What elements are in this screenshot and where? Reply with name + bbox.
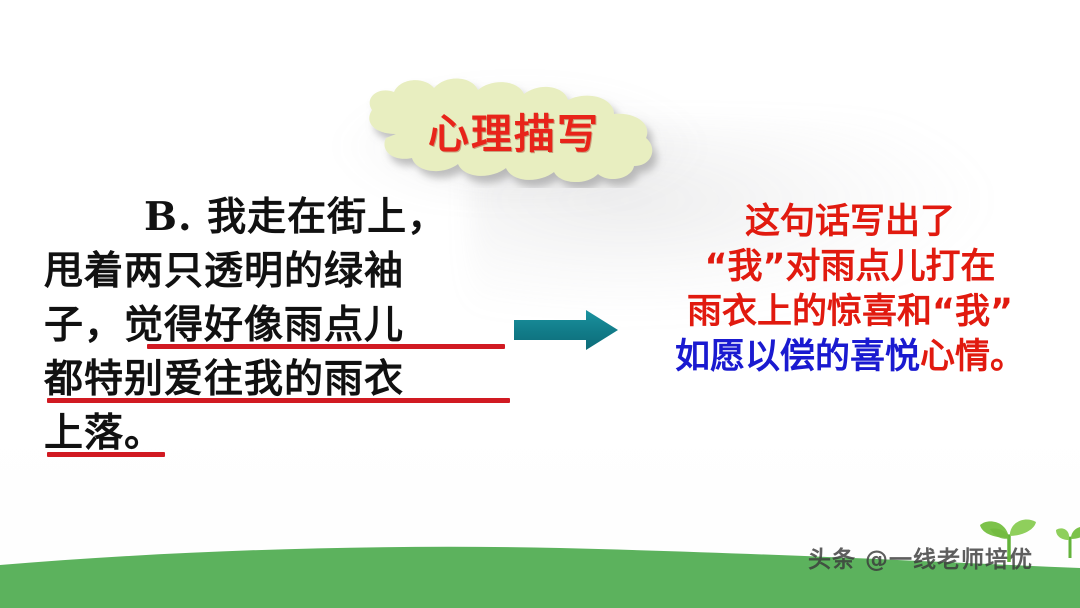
red-underline-1 bbox=[147, 344, 505, 349]
right-arrow-icon bbox=[512, 308, 620, 352]
example-line-3-text: 子，觉得好像雨点儿 bbox=[44, 302, 404, 348]
sprout-icon-secondary bbox=[1056, 524, 1080, 558]
sprout-icon bbox=[978, 516, 1040, 562]
analysis-text-block: 这句话写出了 “我”对雨点儿打在 雨衣上的惊喜和“我” 如愿以偿的喜悦心情。 bbox=[625, 200, 1075, 380]
analysis-line-1: 这句话写出了 bbox=[625, 200, 1075, 245]
example-line-2: 甩着两只透明的绿袖 bbox=[44, 244, 524, 298]
analysis-line-4-red: 心情。 bbox=[920, 337, 1025, 377]
banner-title: 心理描写 bbox=[352, 76, 672, 188]
example-line-5-text: 上落。 bbox=[44, 410, 164, 456]
analysis-line-4: 如愿以偿的喜悦心情。 bbox=[625, 335, 1075, 380]
red-underline-2 bbox=[47, 398, 510, 403]
analysis-line-3: 雨衣上的惊喜和“我” bbox=[625, 290, 1075, 335]
example-line-1: B. 我走在街上， bbox=[44, 190, 524, 244]
example-line-5: 上落。 bbox=[44, 406, 524, 460]
analysis-line-4-blue: 如愿以偿的喜悦 bbox=[675, 337, 920, 377]
example-line-3: 子，觉得好像雨点儿 bbox=[44, 298, 524, 352]
example-line-4-text: 都特别爱往我的雨衣 bbox=[44, 356, 404, 402]
analysis-line-2: “我”对雨点儿打在 bbox=[625, 245, 1075, 290]
example-line-4: 都特别爱往我的雨衣 bbox=[44, 352, 524, 406]
slide-canvas: 心理描写 B. 我走在街上， 甩着两只透明的绿袖 子，觉得好像雨点儿 都特别爱往… bbox=[0, 0, 1080, 608]
cloud-banner: 心理描写 bbox=[352, 76, 672, 188]
red-underline-3 bbox=[47, 452, 165, 457]
example-text-block: B. 我走在街上， 甩着两只透明的绿袖 子，觉得好像雨点儿 都特别爱往我的雨衣 … bbox=[44, 190, 524, 460]
